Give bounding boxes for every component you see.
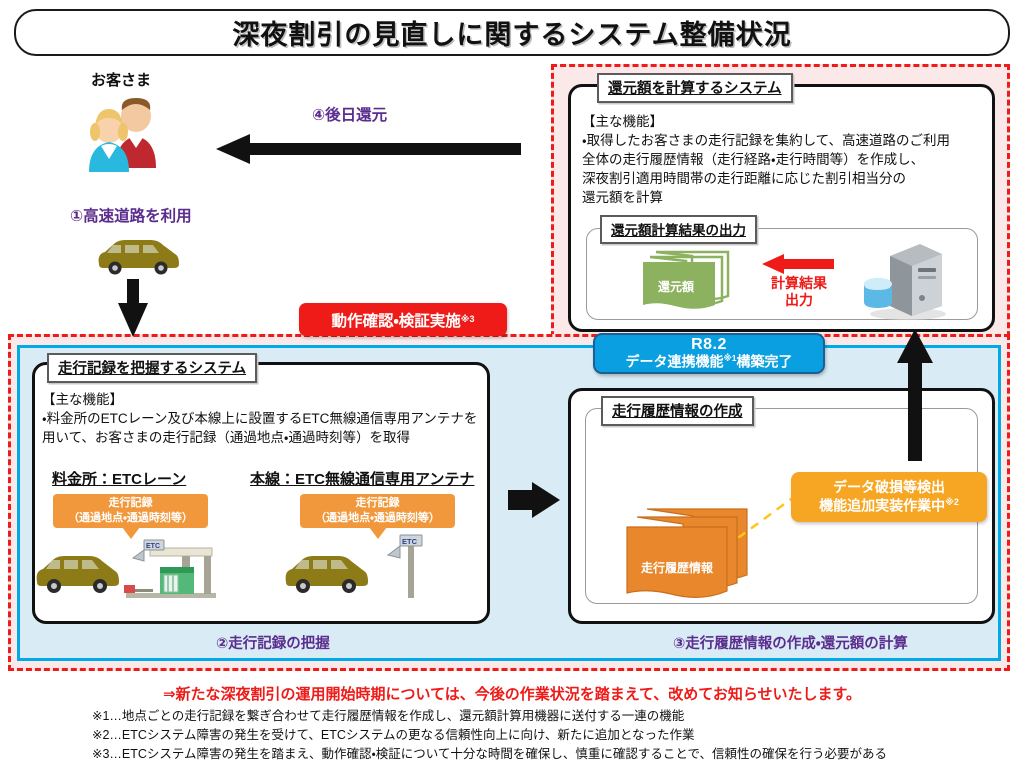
document-stack-history-label: 走行履歴情報	[641, 559, 713, 576]
banner-r82-status: 構築完了	[737, 354, 793, 370]
panel-history-tab: 走行履歴情報の作成	[601, 396, 754, 426]
arrow-right-icon	[508, 482, 560, 518]
footnote-1: ※1…地点ごとの走行記録を繋ぎ合わせて走行履歴情報を作成し、還元額計算用機器に送…	[92, 705, 684, 724]
callout-record-antenna: 走行記録 （通過地点・通過時刻等）	[300, 494, 455, 528]
arrow-left-icon	[216, 133, 521, 165]
callout-data-corruption-detection: データ破損等検出 機能追加実装作業中※2	[791, 472, 987, 522]
callout-record-tollgate: 走行記録 （通過地点・通過時刻等）	[53, 494, 208, 528]
arrow-down-icon	[116, 279, 150, 337]
status-badge-text: 動作確認・検証実施	[331, 309, 460, 331]
two-people-icon	[76, 96, 172, 172]
banner-r82-completion: R8.2 データ連携機能※1構築完了	[593, 333, 825, 374]
footer-notice: ⇒新たな深夜割引の運用開始時期については、今後の作業状況を踏まえて、改めてお知ら…	[0, 683, 1024, 704]
document-stack-history: 走行履歴情報	[625, 505, 755, 608]
record-features-head: 【主な機能】	[42, 390, 123, 409]
record-features-body: ・料金所のETCレーン及び本線上に設置するETC無線通信専用アンテナを 用いて、…	[42, 409, 490, 447]
panel-output-result-tab: 還元額計算結果の出力	[600, 215, 757, 244]
minivan-icon	[95, 234, 181, 281]
footnote-3: ※3…ETCシステム障害の発生を踏まえ、動作確認・検証について十分な時間を確保し…	[92, 743, 887, 762]
calculation-output-arrow-line1: 計算結果	[760, 275, 838, 292]
svg-text:ETC: ETC	[146, 543, 160, 550]
customer-label: お客さま	[91, 70, 151, 91]
status-badge-verification: 動作確認・検証実施※3	[299, 303, 507, 336]
document-stack-refund-label: 還元額	[658, 278, 694, 295]
banner-r82-note: ※1	[724, 353, 737, 363]
status-badge-note: ※3	[461, 314, 475, 325]
page-title: 深夜割引の見直しに関するシステム整備状況	[232, 13, 791, 52]
step-2-label: ②走行記録の把握	[216, 632, 330, 653]
step-3-label: ③走行履歴情報の作成・還元額の計算	[673, 632, 908, 653]
svg-text:ETC: ETC	[402, 537, 418, 546]
footnote-2: ※2…ETCシステム障害の発生を受けて、ETCシステムの更なる信頼性向上に向け、…	[92, 724, 695, 743]
callout-detect-line2: 機能追加実装作業中※2	[819, 497, 959, 515]
calculation-output-arrow-label: 計算結果 出力	[760, 275, 838, 309]
callout-detect-text: 機能追加実装作業中	[819, 497, 945, 513]
calculation-output-arrow-line2: 出力	[760, 292, 838, 309]
server-database-icon	[860, 240, 946, 325]
etc-roadside-antenna-icon: ETC	[372, 527, 432, 604]
toll-gate-etc-lane-icon: ETC	[120, 527, 220, 604]
callout-detect-line1: データ破損等検出	[833, 479, 945, 497]
panel-record-system-tab: 走行記録を把握するシステム	[47, 353, 257, 383]
minivan-icon	[282, 548, 368, 601]
step-1-label: ①高速道路を利用	[70, 204, 192, 226]
slide-canvas: 深夜割引の見直しに関するシステム整備状況 お客さま ④後日還元 ①高速	[0, 0, 1024, 761]
calculation-features-head: 【主な機能】	[582, 112, 992, 131]
callout-record-tollgate-line1: 走行記録	[109, 496, 153, 511]
minivan-icon	[33, 548, 119, 601]
arrow-left-red-icon	[762, 254, 834, 274]
banner-r82-line2: データ連携機能※1構築完了	[626, 354, 793, 370]
calculation-features-body: ・取得したお客さまの走行記録を集約して、高速道路のご利用 全体の走行履歴情報（走…	[582, 131, 994, 208]
callout-detect-note: ※2	[945, 497, 959, 507]
panel-calculation-system-tab: 還元額を計算するシステム	[597, 73, 793, 103]
document-stack-refund: 還元額	[640, 248, 732, 315]
record-col2-heading: 本線：ETC無線通信専用アンテナ	[250, 468, 474, 489]
callout-record-antenna-line1: 走行記録	[356, 496, 400, 511]
step-4-label: ④後日還元	[312, 103, 387, 125]
record-col1-heading: 料金所：ETCレーン	[52, 468, 186, 489]
callout-record-antenna-line2: （通過地点・通過時刻等）	[315, 511, 440, 526]
banner-r82-feature: データ連携機能	[626, 354, 724, 370]
banner-r82-line1: R8.2	[691, 336, 727, 354]
arrow-up-icon	[895, 329, 935, 461]
callout-record-tollgate-line2: （通過地点・通過時刻等）	[68, 511, 193, 526]
page-title-frame: 深夜割引の見直しに関するシステム整備状況	[14, 9, 1010, 56]
